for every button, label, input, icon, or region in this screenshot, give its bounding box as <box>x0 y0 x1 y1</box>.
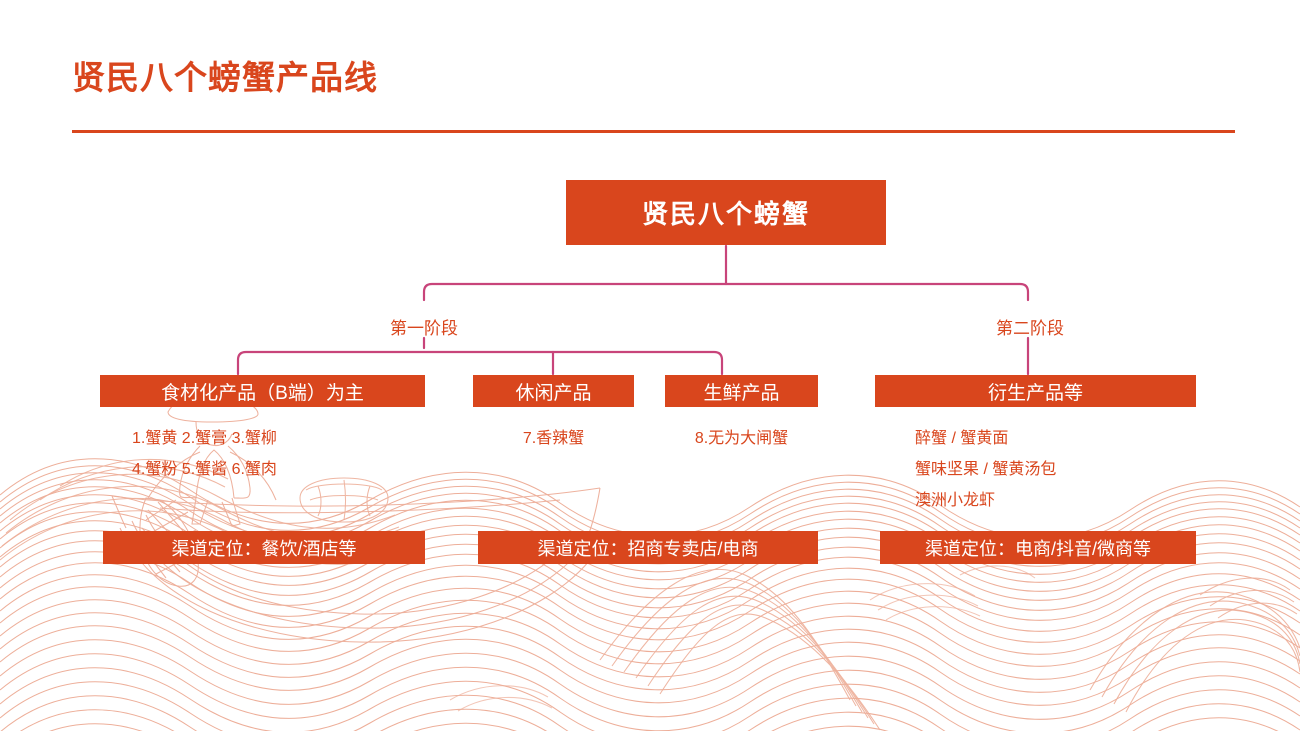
list-item: 澳洲小龙虾 <box>915 485 1196 516</box>
category-box-3[interactable]: 生鲜产品 <box>665 375 818 407</box>
list-item: 8.无为大闸蟹 <box>665 423 818 454</box>
list-item: 蟹味坚果 / 蟹黄汤包 <box>915 454 1196 485</box>
connector-stage-bar <box>424 284 1028 300</box>
connector-stage1-children-bar <box>238 352 722 374</box>
category-items-3: 8.无为大闸蟹 <box>665 423 818 454</box>
category-box-4[interactable]: 衍生产品等 <box>875 375 1196 407</box>
channel-label-2: 渠道定位：招商专卖店/电商 <box>538 535 759 561</box>
list-item: 7.香辣蟹 <box>473 423 634 454</box>
page-title: 贤民八个螃蟹产品线 <box>72 56 378 100</box>
category-items-2: 7.香辣蟹 <box>473 423 634 454</box>
root-node-label: 贤民八个螃蟹 <box>642 194 810 231</box>
slide-canvas: 贤民八个螃蟹产品线 贤民八个螃蟹 第一阶段 第二阶段 食材化产品（B端）为主 休… <box>0 0 1300 731</box>
list-item: 醉蟹 / 蟹黄面 <box>915 423 1196 454</box>
stage-label-1: 第一阶段 <box>357 314 491 339</box>
channel-box-3[interactable]: 渠道定位：电商/抖音/微商等 <box>880 531 1196 564</box>
stage-label-2: 第二阶段 <box>963 314 1097 339</box>
category-title-2: 休闲产品 <box>515 378 591 405</box>
channel-box-1[interactable]: 渠道定位：餐饮/酒店等 <box>103 531 425 564</box>
category-items-1: 1.蟹黄 2.蟹膏 3.蟹柳 4.蟹粉 5.蟹酱 6.蟹肉 <box>100 423 425 485</box>
channel-box-2[interactable]: 渠道定位：招商专卖店/电商 <box>478 531 818 564</box>
category-title-3: 生鲜产品 <box>703 378 779 405</box>
category-title-1: 食材化产品（B端）为主 <box>161 378 364 405</box>
channel-label-1: 渠道定位：餐饮/酒店等 <box>172 535 357 561</box>
category-title-4: 衍生产品等 <box>988 378 1083 405</box>
category-box-2[interactable]: 休闲产品 <box>473 375 634 407</box>
category-box-1[interactable]: 食材化产品（B端）为主 <box>100 375 425 407</box>
category-items-4: 醉蟹 / 蟹黄面 蟹味坚果 / 蟹黄汤包 澳洲小龙虾 <box>875 423 1196 516</box>
title-divider <box>72 130 1235 133</box>
connector-lines <box>0 0 1300 731</box>
list-item: 1.蟹黄 2.蟹膏 3.蟹柳 <box>132 423 425 454</box>
root-node-box[interactable]: 贤民八个螃蟹 <box>566 180 886 245</box>
background-waves-illustration <box>0 0 1300 731</box>
channel-label-3: 渠道定位：电商/抖音/微商等 <box>925 535 1151 561</box>
list-item: 4.蟹粉 5.蟹酱 6.蟹肉 <box>132 454 425 485</box>
